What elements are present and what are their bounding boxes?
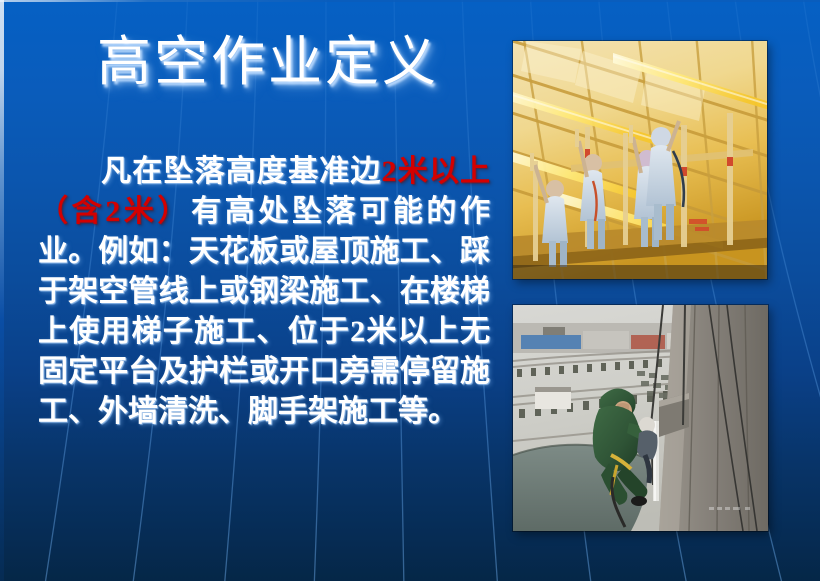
slide-top-border	[0, 0, 820, 2]
slide-left-border	[0, 0, 4, 581]
image-rope-facade-work	[513, 305, 768, 531]
body-segment-1: 凡在坠落高度基准边	[100, 155, 382, 188]
slide-body-text: 凡在坠落高度基准边2米以上（含2米）有高处坠落可能的作业。例如：天花板或屋顶施工…	[38, 152, 490, 432]
presentation-slide: 高空作业定义 凡在坠落高度基准边2米以上（含2米）有高处坠落可能的作业。例如：天…	[0, 0, 820, 581]
body-segment-3: 有高处坠落可能的作业。例如：天花板或屋顶施工、踩于架空管线上或钢梁施工、在楼梯上…	[38, 195, 490, 428]
image-ceiling-scaffold-work	[513, 41, 767, 279]
slide-title: 高空作业定义	[58, 34, 478, 91]
